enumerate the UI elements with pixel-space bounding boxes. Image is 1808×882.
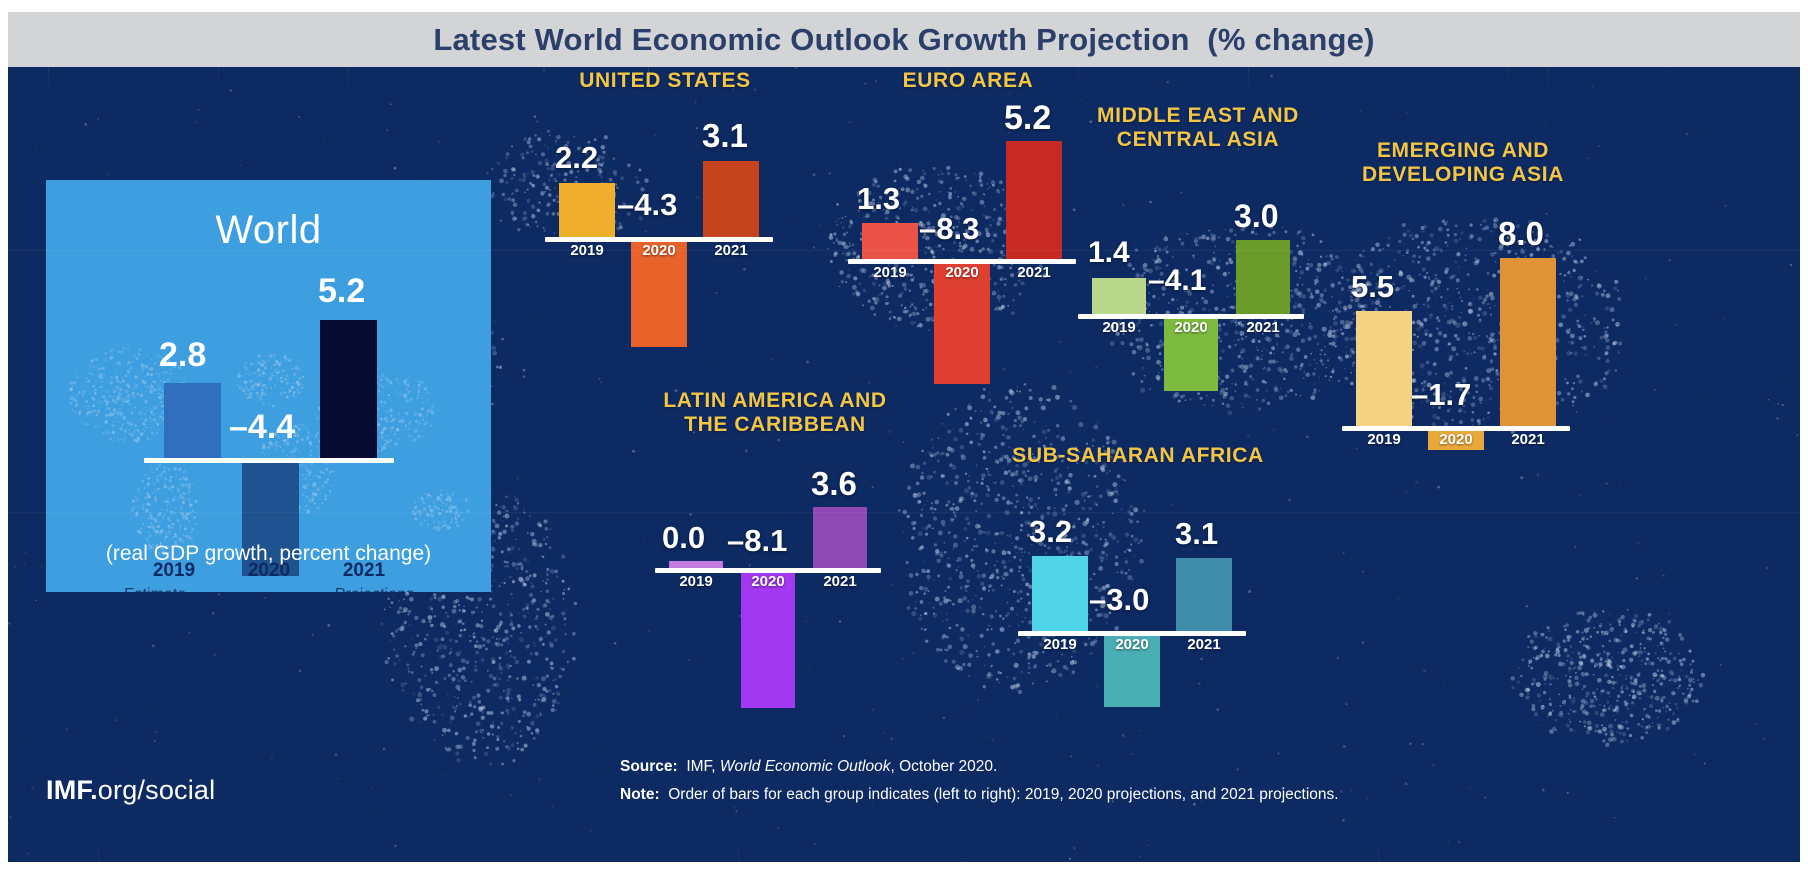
- year-ssa-2019: 2019: [1032, 636, 1088, 653]
- region-title-emerging-developing-asia: EMERGING AND DEVELOPING ASIA: [1362, 139, 1564, 186]
- value-euro-2021: 5.2: [1004, 99, 1051, 138]
- value-eda-2020: –1.7: [1411, 377, 1471, 413]
- world-value-2019: 2.8: [159, 336, 206, 375]
- year-eda-2021: 2021: [1500, 431, 1556, 448]
- region-united-states: UNITED STATES 2.2 –4.3 3.1 2019 2020 202…: [535, 67, 795, 327]
- region-sub-saharan-africa: SUB-SAHARAN AFRICA 3.2 –3.0 3.1 2019 202…: [993, 442, 1283, 702]
- source-text-a: IMF,: [678, 758, 720, 775]
- world-sublabel-projections: Projections: [335, 586, 414, 592]
- year-ssa-2020: 2020: [1104, 636, 1160, 653]
- bar-eda-2019: [1356, 311, 1412, 426]
- region-latin-america-caribbean: LATIN AMERICA AND THE CARIBBEAN 0.0 –8.1…: [635, 387, 915, 717]
- source-publication: World Economic Outlook: [720, 758, 891, 775]
- value-euro-2020: –8.3: [919, 211, 979, 247]
- value-us-2020: –4.3: [617, 187, 677, 223]
- world-bar-2021: [320, 320, 377, 458]
- bar-lac-2021: [813, 507, 867, 568]
- value-ssa-2020: –3.0: [1089, 582, 1149, 618]
- value-eda-2019: 5.5: [1351, 269, 1394, 305]
- year-lac-2019: 2019: [669, 573, 723, 590]
- note-label: Note:: [620, 786, 660, 803]
- year-lac-2021: 2021: [813, 573, 867, 590]
- plot-middle-east-central-asia: 1.4 –4.1 3.0 2019 2020 2021: [1078, 168, 1318, 398]
- region-emerging-developing-asia: EMERGING AND DEVELOPING ASIA 5.5 –1.7 8.…: [1328, 137, 1598, 457]
- region-middle-east-central-asia: MIDDLE EAST AND CENTRAL ASIA 1.4 –4.1 3.…: [1068, 102, 1328, 402]
- title-band: Latest World Economic Outlook Growth Pro…: [8, 12, 1800, 67]
- value-ssa-2021: 3.1: [1175, 516, 1218, 552]
- value-us-2019: 2.2: [555, 140, 598, 176]
- bar-lac-2020: [741, 573, 795, 708]
- bar-meca-2019: [1092, 278, 1146, 314]
- world-panel-title: World: [46, 208, 491, 253]
- year-meca-2019: 2019: [1092, 319, 1146, 336]
- region-title-united-states: UNITED STATES: [579, 69, 751, 93]
- region-euro-area: EURO AREA 1.3 –8.3 5.2 2019 2020 2021: [838, 67, 1098, 397]
- map-stage: World 2.8 –4.4 5.2 2019 2020 2021 Estima…: [8, 67, 1800, 862]
- year-meca-2020: 2020: [1164, 319, 1218, 336]
- plot-united-states: 2.2 –4.3 3.1 2019 2020 2021: [545, 113, 785, 323]
- value-ssa-2019: 3.2: [1029, 514, 1072, 550]
- world-plot: 2.8 –4.4 5.2: [46, 258, 491, 508]
- infographic-poster: Latest World Economic Outlook Growth Pro…: [0, 0, 1808, 882]
- world-value-2021: 5.2: [318, 272, 365, 311]
- bar-euro-2019: [862, 223, 918, 259]
- plot-sub-saharan-africa: 3.2 –3.0 3.1 2019 2020 2021: [1018, 488, 1258, 698]
- page-title: Latest World Economic Outlook Growth Pro…: [433, 22, 1374, 58]
- bar-ssa-2021: [1176, 558, 1232, 631]
- imf-wordmark[interactable]: IMF.org/social: [46, 775, 215, 806]
- value-lac-2020: –8.1: [727, 523, 787, 559]
- year-euro-2021: 2021: [1006, 264, 1062, 281]
- imf-wordmark-bold: IMF.: [46, 775, 98, 805]
- footnotes: Source: IMF, World Economic Outlook, Oct…: [620, 753, 1339, 810]
- bar-euro-2020: [934, 264, 990, 384]
- bar-euro-2021: [1006, 141, 1062, 259]
- year-eda-2019: 2019: [1356, 431, 1412, 448]
- value-euro-2019: 1.3: [857, 181, 900, 217]
- imf-wordmark-rest: org/social: [98, 775, 216, 805]
- world-panel: World 2.8 –4.4 5.2 2019 2020 2021 Estima…: [46, 180, 491, 592]
- year-euro-2020: 2020: [934, 264, 990, 281]
- world-baseline: [144, 458, 394, 463]
- world-sublabel-estimate: Estimate: [124, 586, 186, 592]
- year-us-2020: 2020: [631, 242, 687, 259]
- bar-ssa-2019: [1032, 556, 1088, 631]
- plot-euro-area: 1.3 –8.3 5.2 2019 2020 2021: [848, 113, 1088, 393]
- value-meca-2019: 1.4: [1088, 236, 1130, 270]
- world-value-2020: –4.4: [229, 408, 295, 447]
- year-us-2019: 2019: [559, 242, 615, 259]
- source-line: Source: IMF, World Economic Outlook, Oct…: [620, 753, 1339, 782]
- value-lac-2021: 3.6: [811, 465, 857, 503]
- region-title-middle-east-central-asia: MIDDLE EAST AND CENTRAL ASIA: [1097, 104, 1299, 151]
- bar-eda-2021: [1500, 258, 1556, 426]
- value-meca-2021: 3.0: [1234, 198, 1278, 235]
- plot-latin-america-caribbean: 0.0 –8.1 3.6 2019 2020 2021: [655, 453, 895, 713]
- year-meca-2021: 2021: [1236, 319, 1290, 336]
- note-text: Order of bars for each group indicates (…: [660, 786, 1339, 803]
- year-euro-2019: 2019: [862, 264, 918, 281]
- value-us-2021: 3.1: [702, 117, 748, 155]
- value-meca-2020: –4.1: [1148, 264, 1206, 298]
- region-title-euro-area: EURO AREA: [903, 69, 1034, 93]
- source-text-b: , October 2020.: [890, 758, 997, 775]
- value-lac-2019: 0.0: [662, 520, 705, 556]
- year-us-2021: 2021: [703, 242, 759, 259]
- source-label: Source:: [620, 758, 678, 775]
- bar-meca-2021: [1236, 240, 1290, 314]
- note-line: Note: Order of bars for each group indic…: [620, 781, 1339, 810]
- year-ssa-2021: 2021: [1176, 636, 1232, 653]
- plot-emerging-developing-asia: 5.5 –1.7 8.0 2019 2020 2021: [1342, 203, 1582, 453]
- bar-lac-2019: [669, 561, 723, 568]
- region-title-latin-america-caribbean: LATIN AMERICA AND THE CARIBBEAN: [663, 389, 886, 436]
- world-panel-caption: (real GDP growth, percent change): [46, 542, 491, 566]
- bar-us-2021: [703, 161, 759, 237]
- year-lac-2020: 2020: [741, 573, 795, 590]
- world-year-sublabels: Estimate Projections: [124, 586, 414, 592]
- world-bar-2019: [164, 383, 221, 458]
- region-title-sub-saharan-africa: SUB-SAHARAN AFRICA: [1012, 444, 1264, 468]
- value-eda-2021: 8.0: [1498, 215, 1544, 253]
- bar-us-2019: [559, 183, 615, 237]
- year-eda-2020: 2020: [1428, 431, 1484, 448]
